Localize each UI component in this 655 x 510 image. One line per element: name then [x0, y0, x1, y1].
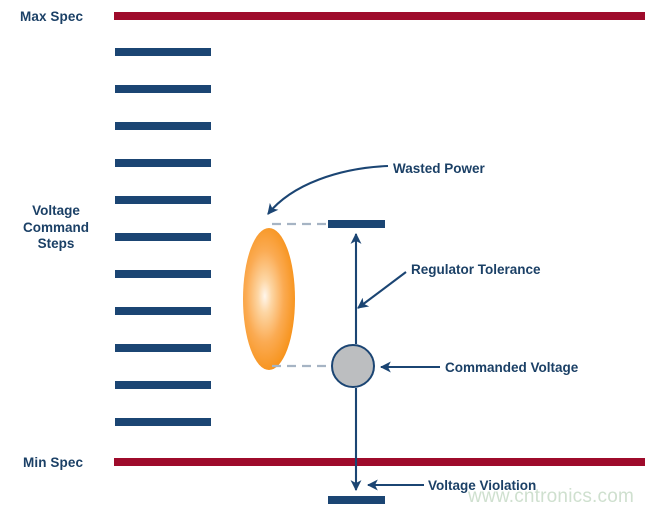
commanded-voltage-label: Commanded Voltage	[445, 360, 578, 375]
curved-arrow-icon	[268, 166, 388, 214]
regulator-tolerance-label: Regulator Tolerance	[411, 262, 541, 277]
diagonal-arrow-icon	[358, 272, 406, 308]
site-watermark: www.cntronics.com	[468, 486, 634, 508]
connector-layer	[0, 0, 655, 510]
wasted-power-label: Wasted Power	[393, 161, 485, 176]
voltage-spec-diagram: Max Spec Min Spec Voltage Command Steps	[0, 0, 655, 510]
